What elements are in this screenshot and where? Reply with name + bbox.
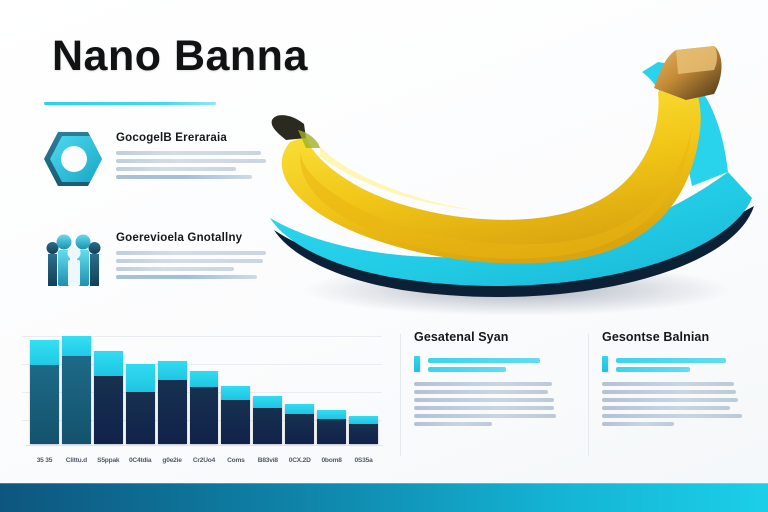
chart-bars: [30, 334, 378, 444]
chart-bar-base: [285, 414, 314, 444]
chart-bar-cap: [317, 410, 346, 419]
poster-canvas: Nano Banna: [0, 0, 768, 512]
chart-bar-cap: [285, 404, 314, 414]
chart-bar: [190, 371, 219, 444]
chart-bar: [30, 340, 59, 444]
chart-bar: [285, 404, 314, 444]
bar-chart: 35 35Clittu.dS5ppak0C4tdiag0e2ieCr2Uo4Co…: [22, 330, 382, 470]
feature-heading: GocogelB Ereraraia: [116, 132, 266, 144]
chart-bar-cap: [349, 416, 378, 424]
chart-bar-cap: [126, 364, 155, 393]
chart-tick-labels: 35 35Clittu.dS5ppak0C4tdiag0e2ieCr2Uo4Co…: [30, 457, 378, 464]
chart-bar: [253, 396, 282, 444]
chart-bar-cap: [94, 351, 123, 375]
chart-bar: [349, 416, 378, 444]
chart-bar: [221, 386, 250, 444]
chart-bar: [94, 351, 123, 444]
chart-bar-cap: [190, 371, 219, 386]
card-body-text: [414, 382, 576, 426]
chart-tick-label: S5ppak: [94, 457, 123, 464]
info-card-0[interactable]: Gesatenal Syan: [400, 330, 576, 470]
chart-tick-label: B83vi8: [253, 457, 282, 464]
chart-bar-cap: [158, 361, 187, 380]
chart-bar-base: [94, 376, 123, 444]
chart-axis-line: [26, 445, 382, 446]
banana-illustration: [262, 22, 762, 322]
people-group-icon: [44, 228, 104, 290]
chart-tick-label: Clittu.d: [62, 457, 91, 464]
hexagon-icon: [44, 128, 104, 190]
chart-bar-base: [253, 408, 282, 444]
chart-bar-base: [190, 387, 219, 444]
chart-tick-label: 0CX.2D: [285, 457, 314, 464]
chart-bar: [126, 364, 155, 444]
chart-bar-cap: [30, 340, 59, 364]
title-underline-rule: [44, 102, 216, 105]
chart-bar: [317, 410, 346, 444]
card-body-text: [602, 382, 764, 426]
card-accent-bar: [602, 356, 608, 372]
chart-bar-base: [30, 365, 59, 444]
feature-body-text: [116, 151, 266, 179]
chart-bar-cap: [221, 386, 250, 400]
chart-bar-base: [62, 356, 91, 444]
card-accent-bar: [414, 356, 420, 372]
chart-bar-base: [126, 392, 155, 444]
chart-tick-label: Cr2Uo4: [190, 457, 219, 464]
chart-tick-label: 0bom8: [317, 457, 346, 464]
chart-tick-label: 35 35: [30, 457, 59, 464]
chart-bar-cap: [62, 336, 91, 356]
card-subtitle: [616, 356, 726, 372]
chart-bar-base: [221, 400, 250, 444]
chart-bar: [158, 361, 187, 444]
bottom-gradient-bar: [0, 483, 768, 512]
chart-tick-label: g0e2ie: [158, 457, 187, 464]
chart-bar-base: [349, 424, 378, 444]
card-heading: Gesontse Balnian: [602, 330, 764, 344]
feature-body-text: [116, 251, 266, 279]
info-card-1[interactable]: Gesontse Balnian: [588, 330, 764, 470]
chart-bar-base: [317, 419, 346, 444]
chart-bar-cap: [253, 396, 282, 408]
feature-item-1[interactable]: Goerevioela Gnotallny: [44, 228, 294, 290]
chart-tick-label: 0C4tdia: [126, 457, 155, 464]
card-subtitle: [428, 356, 540, 372]
chart-tick-label: 0S35a: [349, 457, 378, 464]
feature-heading: Goerevioela Gnotallny: [116, 232, 266, 244]
chart-tick-label: Coms: [221, 457, 250, 464]
chart-bar-base: [158, 380, 187, 444]
card-heading: Gesatenal Syan: [414, 330, 576, 344]
chart-bar: [62, 336, 91, 444]
feature-item-0[interactable]: GocogelB Ereraraia: [44, 128, 294, 190]
